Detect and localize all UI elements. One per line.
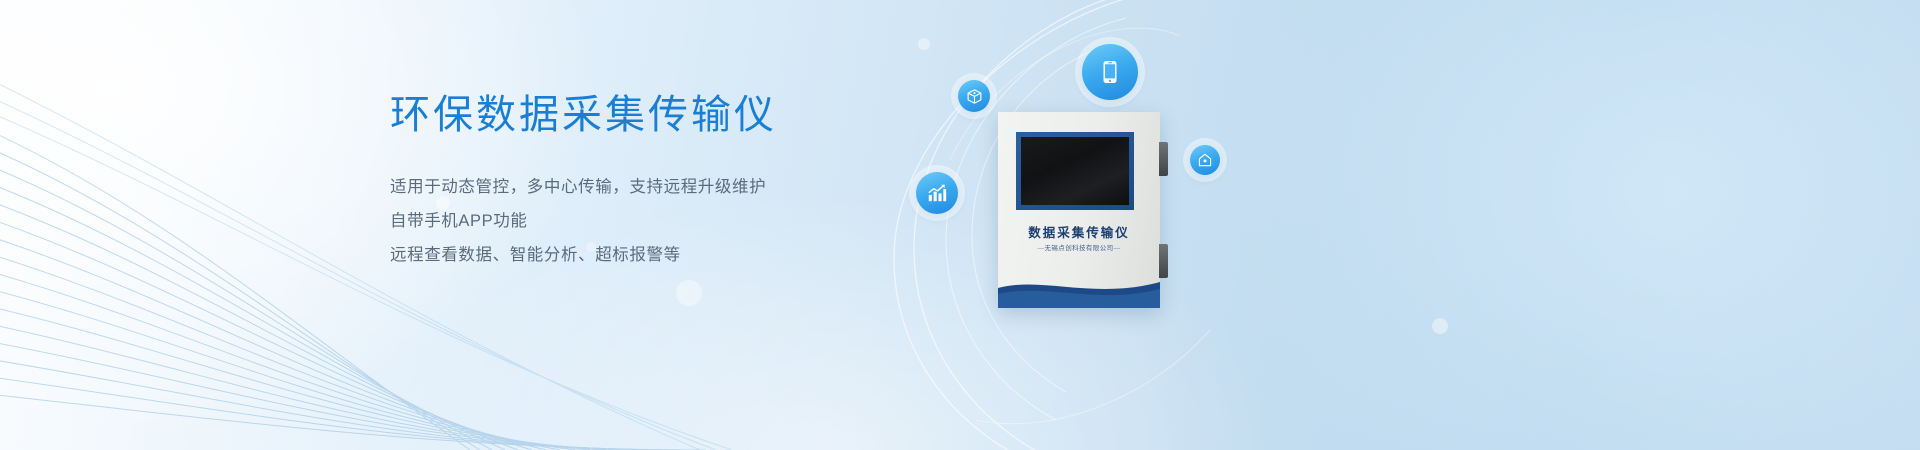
device-side-port: [1159, 142, 1168, 176]
device-screen-bezel: [1016, 132, 1134, 210]
device-screen: [1021, 137, 1129, 205]
badge-phone[interactable]: [1082, 44, 1138, 100]
feature-item: 自带手机APP功能: [390, 207, 950, 235]
phone-icon: [1097, 59, 1123, 85]
device-side-port: [1159, 244, 1168, 278]
badge-box[interactable]: [958, 80, 990, 112]
badge-chart[interactable]: [916, 172, 958, 214]
product-banner: 环保数据采集传输仪 适用于动态管控，多中心传输，支持远程升级维护 自带手机APP…: [0, 0, 1920, 450]
device-photo: 数据采集传输仪 —无锡点创科技有限公司—: [998, 112, 1160, 308]
feature-list: 适用于动态管控，多中心传输，支持远程升级维护 自带手机APP功能 远程查看数据、…: [390, 173, 950, 269]
feature-item: 适用于动态管控，多中心传输，支持远程升级维护: [390, 173, 950, 201]
device-label: 数据采集传输仪: [998, 222, 1160, 241]
decorative-bubble: [1432, 318, 1448, 334]
device-footer-band: [998, 274, 1160, 308]
alarm-icon: [1197, 152, 1213, 168]
badge-alarm[interactable]: [1190, 145, 1220, 175]
product-visual: 数据采集传输仪 —无锡点创科技有限公司—: [880, 0, 1360, 450]
page-title: 环保数据采集传输仪: [390, 92, 950, 139]
decorative-bubble: [676, 280, 702, 306]
device-sublabel: —无锡点创科技有限公司—: [998, 242, 1160, 252]
chart-icon: [926, 182, 948, 204]
feature-item: 远程查看数据、智能分析、超标报警等: [390, 241, 950, 269]
box-icon: [966, 88, 983, 105]
banner-copy: 环保数据采集传输仪 适用于动态管控，多中心传输，支持远程升级维护 自带手机APP…: [390, 92, 950, 275]
